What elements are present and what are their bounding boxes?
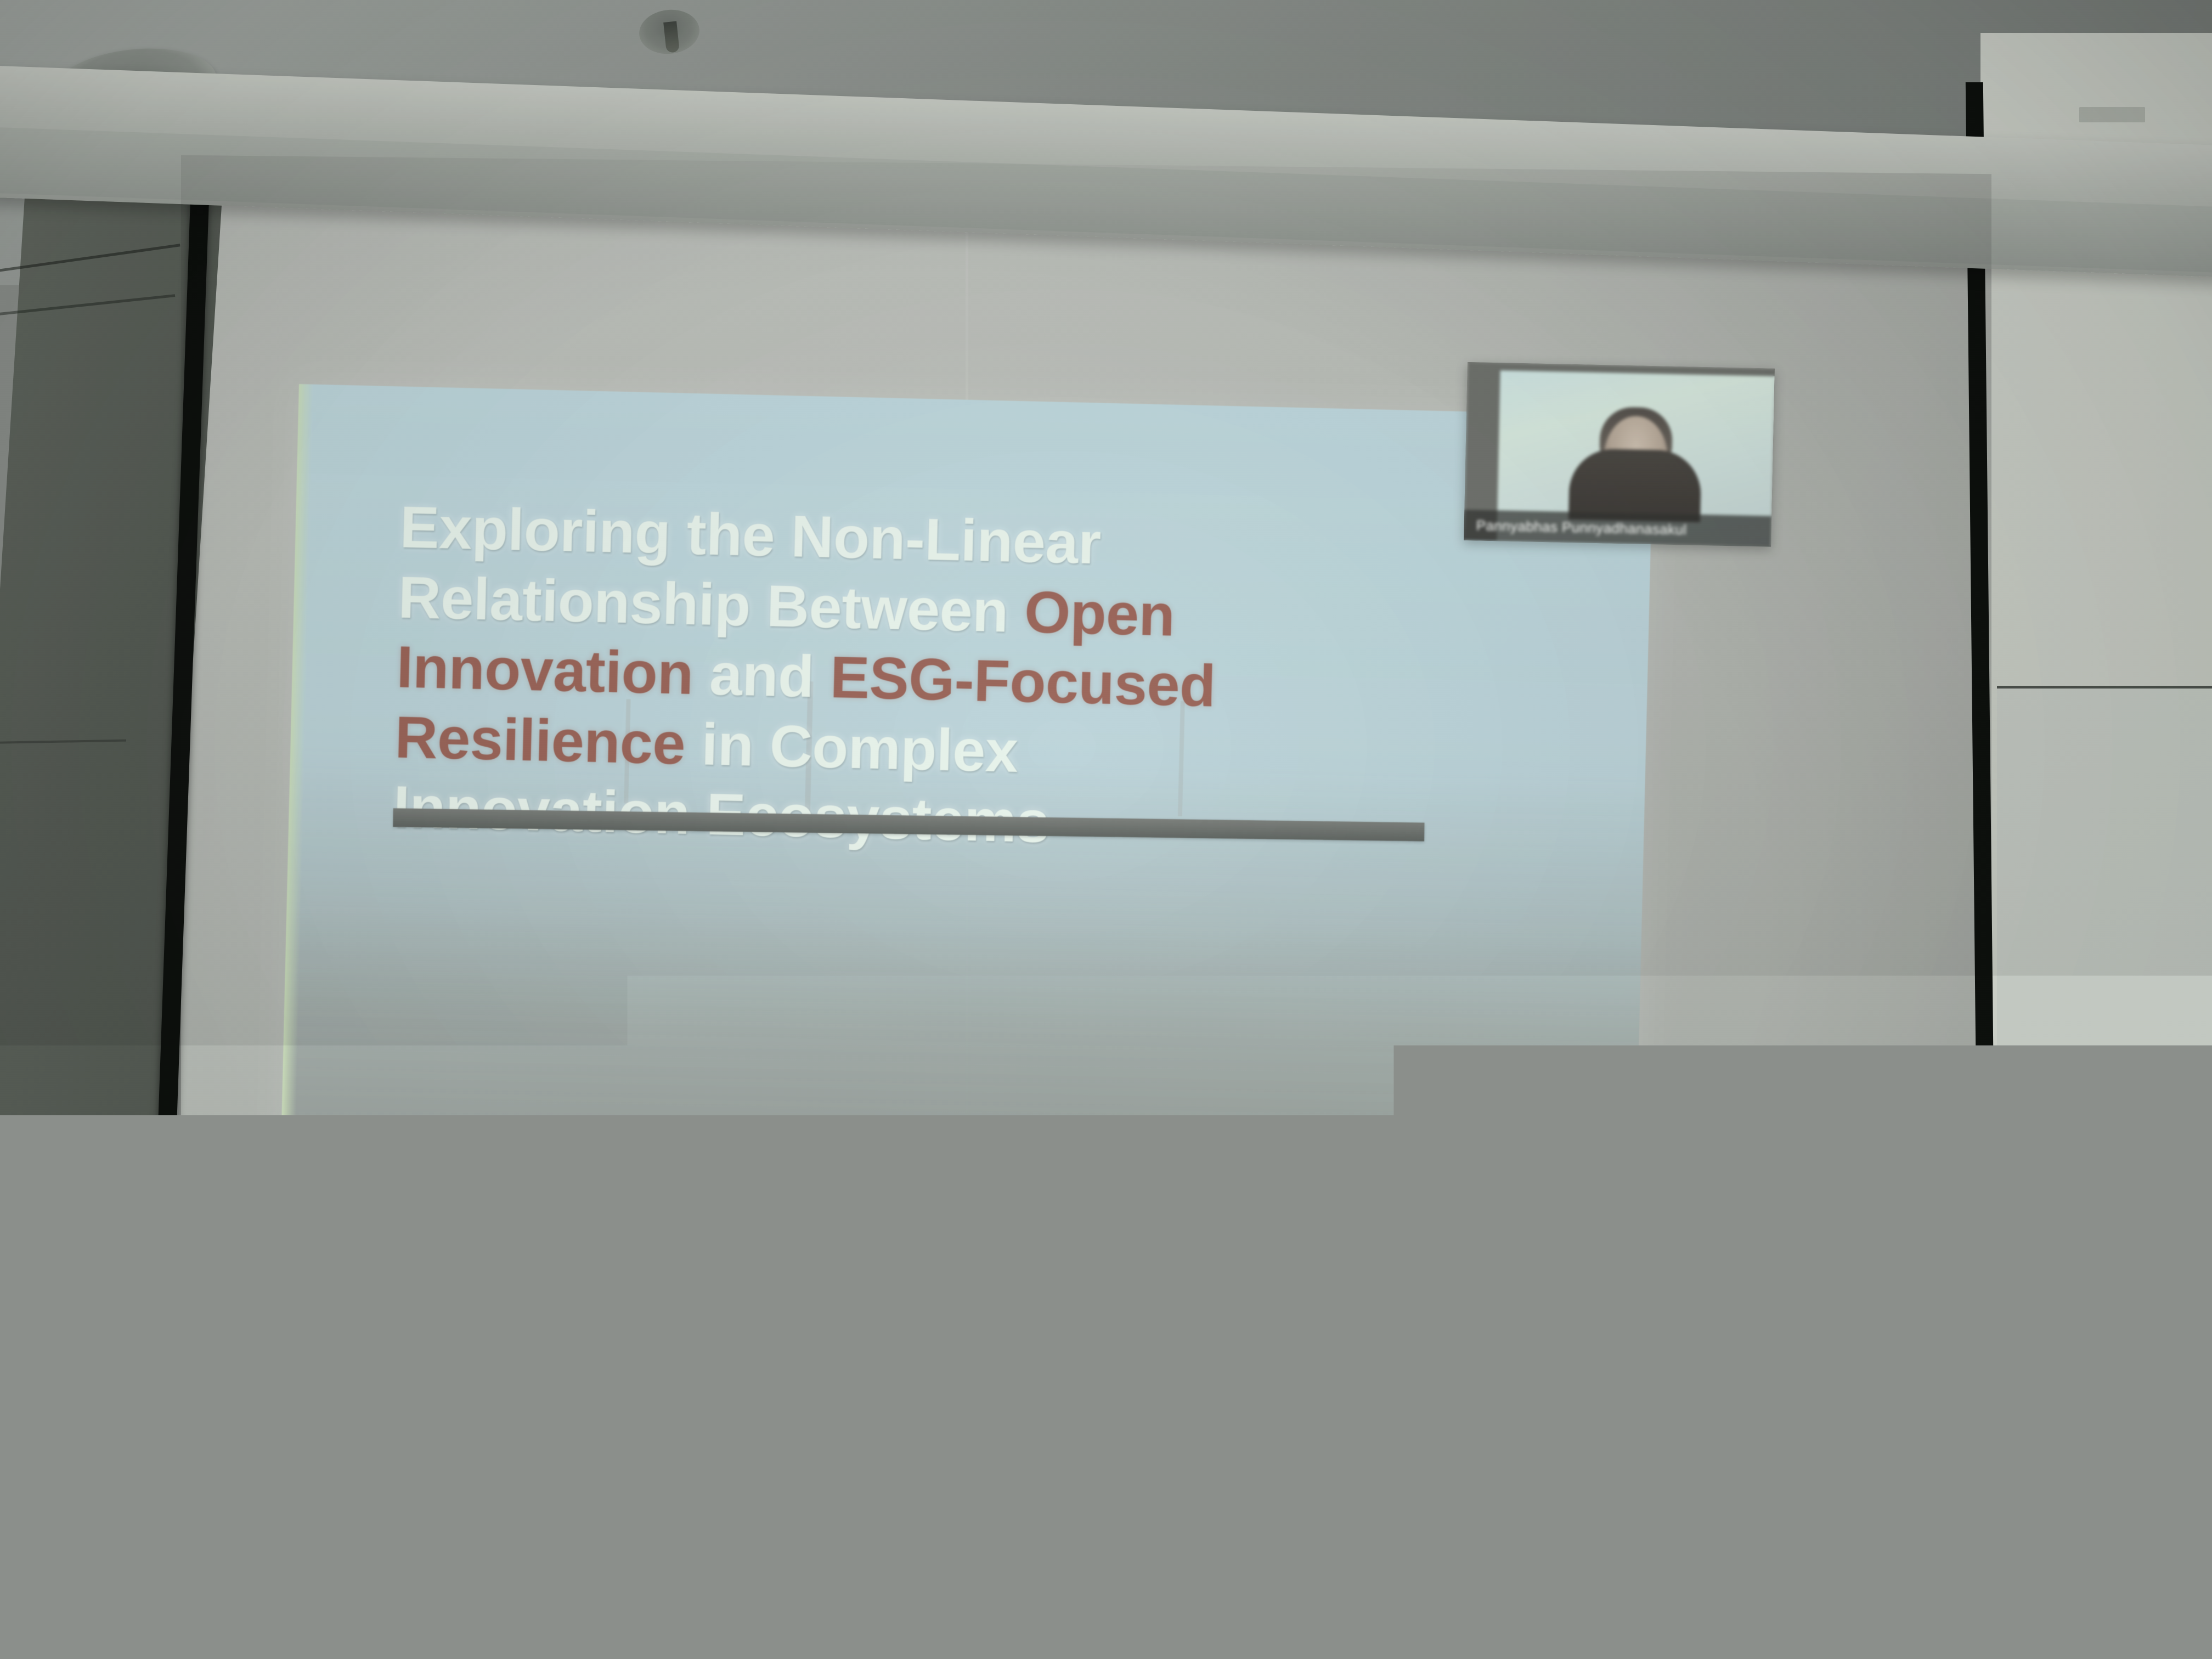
projected-slide: Exploring the Non-LinearRelationship Bet… bbox=[274, 384, 1654, 1469]
person-torso bbox=[1568, 448, 1702, 522]
square-bullet-icon bbox=[403, 1189, 419, 1206]
author-list: Mr. Pannyabhas Punnyadhanasakul Assoc. P… bbox=[400, 1177, 1501, 1352]
author-name: Assoc. Prof. Phaninee Naruetharadhol bbox=[438, 1252, 1044, 1307]
title-run: Relationship Between bbox=[397, 563, 1025, 645]
webcam-name-bar: Pannyabhas Punnyadhanasakul bbox=[1464, 510, 1771, 547]
wall-mark bbox=[2079, 107, 2145, 122]
right-wall-lower-panel bbox=[1997, 686, 2212, 1659]
title-accent-run: Resilience bbox=[394, 703, 686, 776]
list-item: Assoc. Prof. Phaninee Naruetharadhol bbox=[401, 1251, 1499, 1318]
webcam-participant-name: Pannyabhas Punnyadhanasakul bbox=[1464, 516, 1686, 538]
title-run: and bbox=[692, 640, 831, 710]
title-run: in Complex bbox=[685, 710, 1019, 784]
screenshot-root: Exploring the Non-LinearRelationship Bet… bbox=[0, 0, 2212, 1659]
title-accent-run: Innovation bbox=[396, 634, 694, 707]
title-accent-run: Open bbox=[1024, 578, 1176, 648]
square-bullet-icon bbox=[402, 1263, 417, 1280]
title-accent-run: ESG-Focused bbox=[830, 644, 1216, 719]
webcam-overlay[interactable]: Pannyabhas Punnyadhanasakul bbox=[1464, 362, 1775, 547]
